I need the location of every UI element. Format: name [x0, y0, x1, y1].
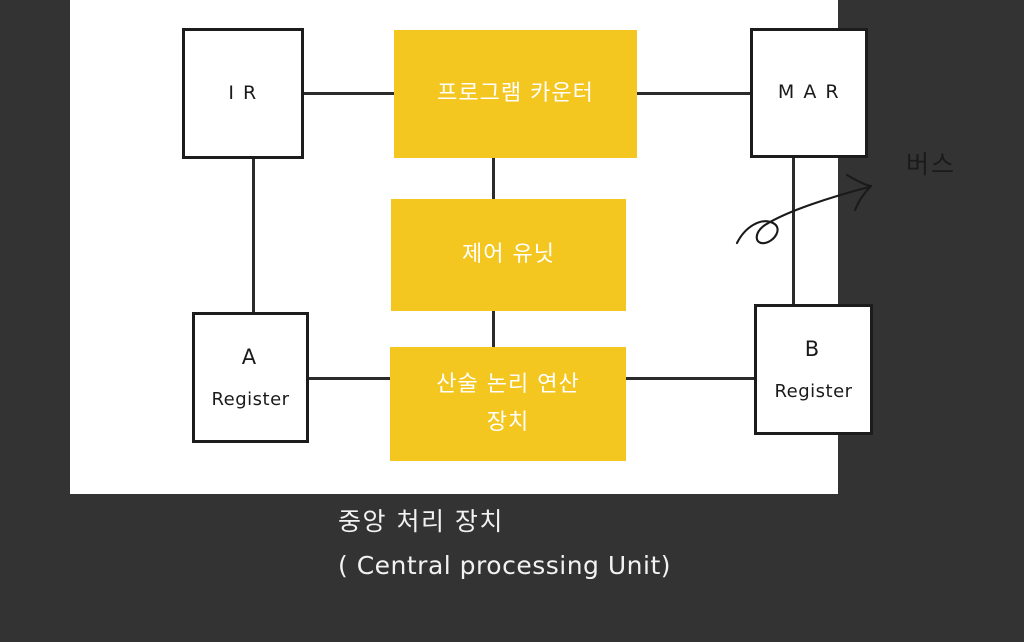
- bus-callout-arrow-icon: [735, 155, 920, 250]
- connector-ir-to-a-register: [252, 157, 255, 314]
- node-control-unit: 제어 유닛: [391, 199, 626, 311]
- diagram-caption: 중앙 처리 장치 ( Central processing Unit): [338, 500, 671, 588]
- node-instruction-register-label: I R: [228, 80, 257, 108]
- node-a-register-label-sub: Register: [211, 387, 289, 413]
- node-a-register: A Register: [192, 312, 309, 443]
- node-alu-label-line1: 산술 논리 연산: [436, 369, 579, 401]
- node-b-register-label-block: B Register: [774, 334, 852, 405]
- connector-control-unit-to-alu: [492, 309, 495, 349]
- node-program-counter-label: 프로그램 카운터: [437, 78, 594, 110]
- node-memory-address-register-label: M A R: [778, 79, 840, 107]
- connector-alu-to-b-register: [626, 377, 755, 380]
- node-instruction-register: I R: [182, 28, 304, 159]
- bus-label: 버스: [906, 145, 956, 181]
- caption-line-english: ( Central processing Unit): [338, 544, 671, 588]
- connector-a-register-to-alu: [309, 377, 391, 380]
- node-control-unit-label: 제어 유닛: [462, 239, 555, 271]
- connector-ir-to-program-counter: [304, 92, 395, 95]
- node-b-register-label-main: B: [774, 334, 852, 364]
- node-memory-address-register: M A R: [750, 28, 868, 158]
- node-alu-label-block: 산술 논리 연산 장치: [436, 369, 579, 439]
- node-a-register-label-block: A Register: [211, 342, 289, 413]
- connector-program-counter-to-control-unit: [492, 156, 495, 201]
- diagram-canvas: I R 프로그램 카운터 M A R 제어 유닛 산술 논리 연산 장치 A R…: [0, 0, 1024, 642]
- caption-line-korean: 중앙 처리 장치: [338, 500, 671, 544]
- node-b-register: B Register: [754, 304, 873, 435]
- node-alu-label-line2: 장치: [436, 407, 579, 439]
- node-program-counter: 프로그램 카운터: [394, 30, 637, 158]
- node-arithmetic-logic-unit: 산술 논리 연산 장치: [390, 347, 626, 461]
- whiteboard-panel: I R 프로그램 카운터 M A R 제어 유닛 산술 논리 연산 장치 A R…: [70, 0, 838, 494]
- node-a-register-label-main: A: [211, 342, 289, 372]
- connector-program-counter-to-mar: [637, 92, 751, 95]
- node-b-register-label-sub: Register: [774, 379, 852, 405]
